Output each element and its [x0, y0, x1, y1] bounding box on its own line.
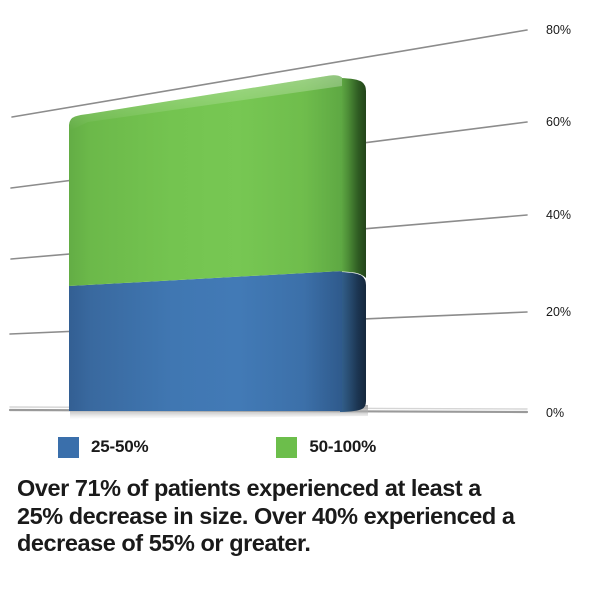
y-tick-label-40: 40% [546, 208, 571, 222]
caption-line-2: 25% decrease in size. Over 40% experienc… [17, 503, 592, 531]
column-segment-50-100-side [340, 78, 366, 278]
stacked-column-chart: 80% 60% 40% 20% 0% 25-50% 50-100% Over 7… [0, 0, 600, 600]
y-tick-label-60: 60% [546, 115, 571, 129]
column-segment-25-50-front [69, 271, 342, 411]
column-segment-25-50[interactable] [69, 271, 366, 412]
plot-svg: 80% 60% 40% 20% 0% [0, 0, 600, 425]
chart-caption: Over 71% of patients experienced at leas… [17, 475, 592, 558]
y-axis-tick-labels: 80% 60% 40% 20% 0% [546, 23, 571, 420]
legend-swatch-50-100 [276, 437, 297, 458]
legend-label-25-50: 25-50% [91, 437, 148, 457]
y-tick-label-80: 80% [546, 23, 571, 37]
column-segment-50-100[interactable] [69, 75, 366, 286]
y-tick-label-0: 0% [546, 406, 564, 420]
column-segment-25-50-side [340, 272, 366, 412]
legend-label-50-100: 50-100% [309, 437, 376, 457]
chart-legend: 25-50% 50-100% [0, 425, 600, 469]
legend-item-25-50[interactable]: 25-50% [58, 437, 148, 458]
caption-line-1: Over 71% of patients experienced at leas… [17, 475, 592, 503]
plot-area: 80% 60% 40% 20% 0% [0, 0, 600, 425]
column-segment-50-100-front [69, 75, 342, 286]
legend-swatch-25-50 [58, 437, 79, 458]
legend-item-50-100[interactable]: 50-100% [276, 437, 376, 458]
y-tick-label-20: 20% [546, 305, 571, 319]
caption-line-3: decrease of 55% or greater. [17, 530, 592, 558]
